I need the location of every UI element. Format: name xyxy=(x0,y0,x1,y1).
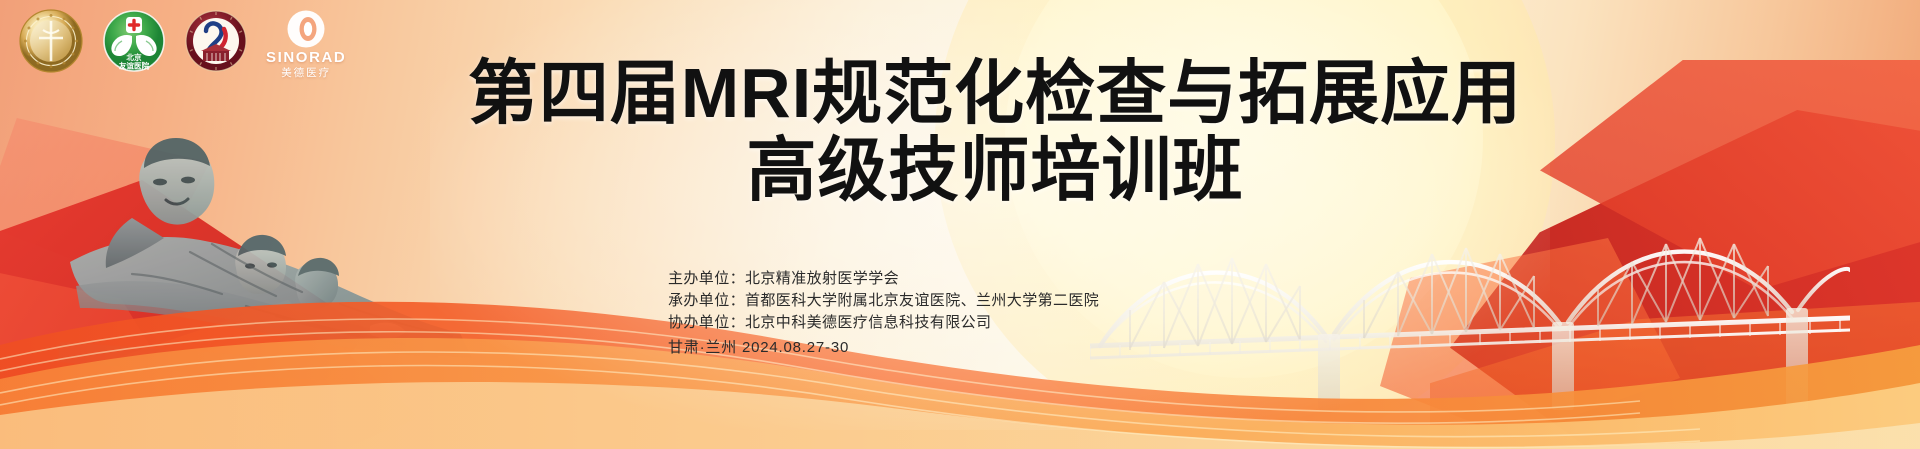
decor-right-glow-shard xyxy=(1430,300,1920,449)
organizer-unit-line: 承办单位：首都医科大学附属北京友谊医院、兰州大学第二医院 xyxy=(668,290,1099,312)
host-unit-line: 主办单位：北京精准放射医学学会 xyxy=(668,268,1099,290)
decor-left-red-shard-2 xyxy=(0,250,220,449)
organizer-info-block: 主办单位：北京精准放射医学学会 承办单位：首都医科大学附属北京友谊医院、兰州大学… xyxy=(668,268,1099,359)
date-location-line: 甘肃·兰州 2024.08.27-30 xyxy=(668,337,1099,359)
decor-left-red-shard-1 xyxy=(0,180,370,449)
banner-title-block: 第四届MRI规范化检查与拓展应用 高级技师培训班 xyxy=(0,58,1920,207)
coorganizer-unit-line: 协办单位：北京中科美德医疗信息科技有限公司 xyxy=(668,312,1099,334)
banner-title-line1: 第四届MRI规范化检查与拓展应用 xyxy=(0,58,1920,129)
decor-left-orange-shard xyxy=(120,300,420,449)
conference-banner: 北京 友谊医院 xyxy=(0,0,1920,449)
decor-right-orange-shard xyxy=(1380,238,1680,438)
sinorad-eye-icon xyxy=(286,9,326,49)
banner-title-line2: 高级技师培训班 xyxy=(0,135,1920,206)
